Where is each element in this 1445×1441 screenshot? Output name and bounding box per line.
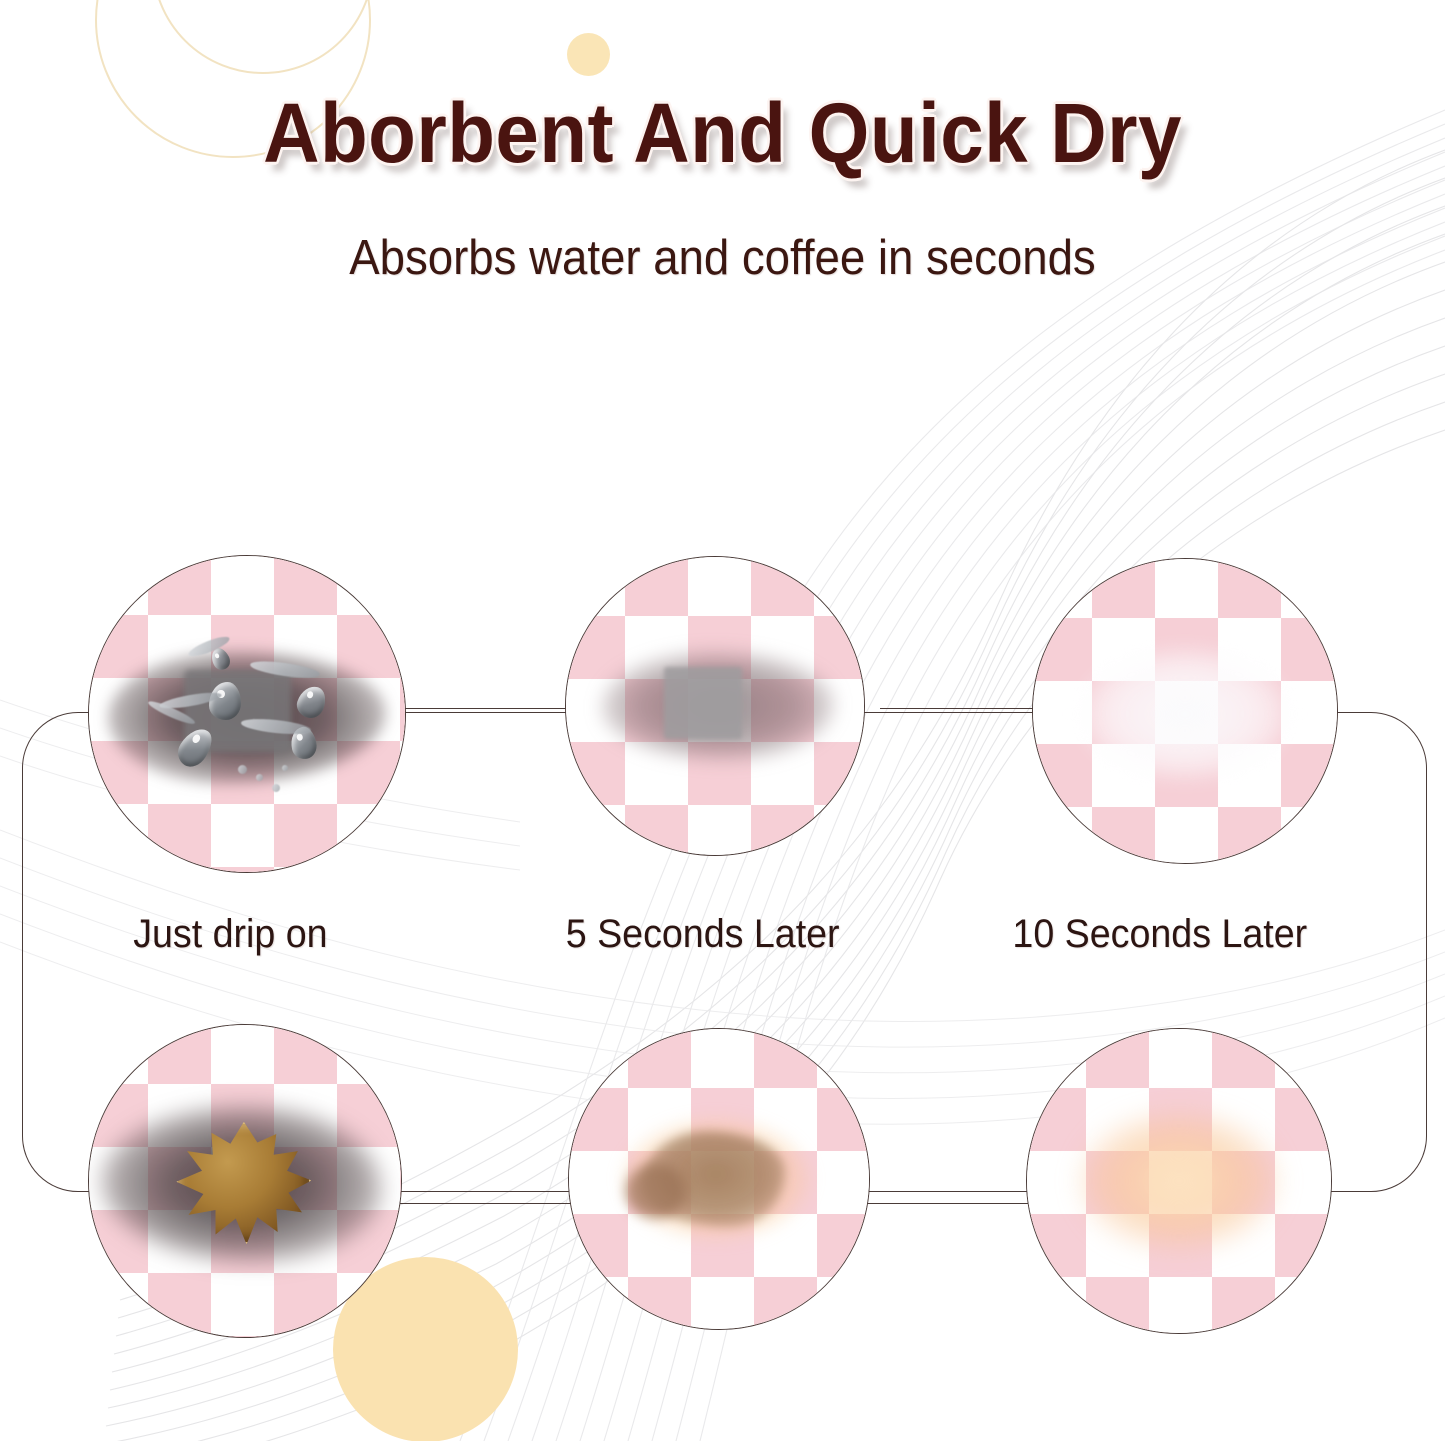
coffee-swatch-10-seconds-later	[1026, 1028, 1332, 1334]
checker-pattern	[565, 556, 865, 856]
infographic-canvas: Aborbent And Quick Dry Absorbs water and…	[0, 0, 1445, 1441]
water-swatch-10-seconds-later	[1032, 558, 1338, 864]
step-label-5-seconds-later: 5 Seconds Later	[566, 912, 840, 957]
connector-line-coffee-2-3	[855, 1203, 1050, 1204]
coffee-swatch-just-drip-on	[88, 1024, 402, 1338]
checker-pattern	[88, 555, 406, 873]
water-swatch-5-seconds-later	[565, 556, 865, 856]
checker-pattern	[568, 1028, 870, 1330]
decorative-dot-small	[567, 33, 610, 76]
water-microdrop-4	[282, 765, 288, 771]
checker-pattern	[1026, 1028, 1332, 1334]
water-microdrop-1	[238, 765, 247, 774]
checker-pattern	[88, 1024, 402, 1338]
checker-pattern	[1032, 558, 1338, 864]
coffee-swatch-5-seconds-later	[568, 1028, 870, 1330]
water-swatch-just-drip-on	[88, 555, 406, 873]
page-subtitle: Absorbs water and coffee in seconds	[51, 230, 1395, 286]
step-label-10-seconds-later: 10 Seconds Later	[1012, 912, 1307, 957]
page-title: Aborbent And Quick Dry	[51, 85, 1395, 182]
water-droplet-1	[209, 682, 241, 720]
step-label-just-drip-on: Just drip on	[133, 912, 327, 957]
